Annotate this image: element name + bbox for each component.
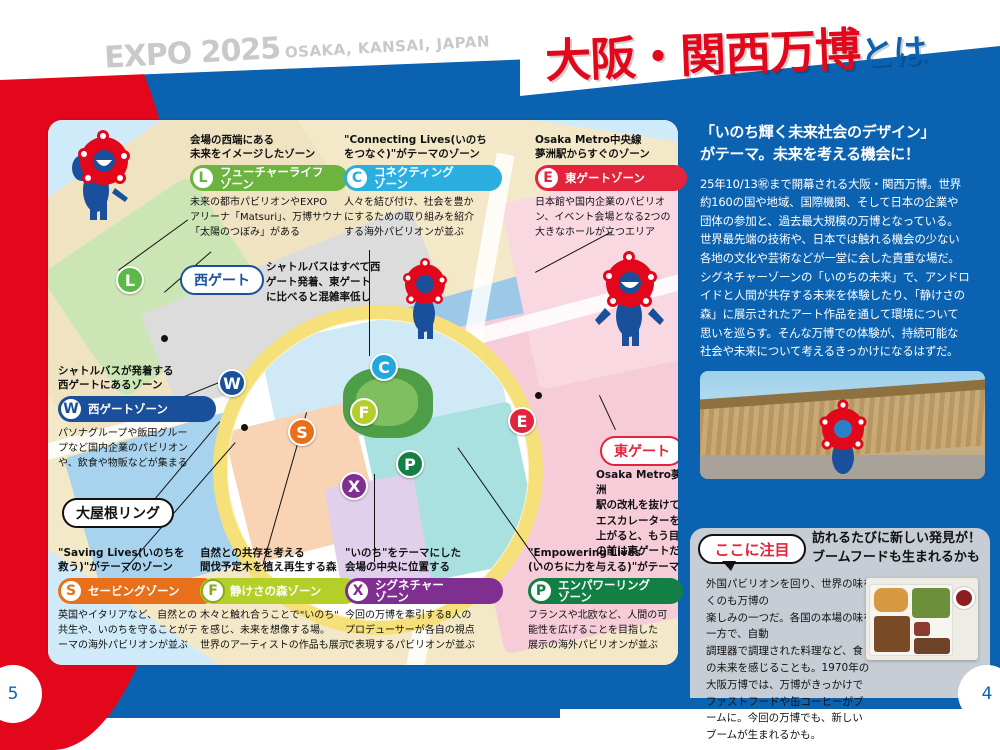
map-anchor-east-gate — [535, 392, 542, 399]
page-title-main: 大阪・関西万博 — [544, 22, 861, 88]
zone-desc-L: 未来の都市パビリオンやEXPO アリーナ「Matsuri」、万博サウナ 「太陽の… — [190, 195, 348, 240]
mascot-myaku-east — [593, 250, 667, 348]
map-pin-P[interactable]: P — [396, 450, 424, 478]
right-column: 「いのち輝く未来社会のデザイン」 がテーマ。未来を考える機会に！ 25年10/1… — [700, 122, 985, 479]
attention-badge: ここに注目 — [698, 534, 806, 564]
zone-name-P: エンパワーリング ゾーン — [558, 579, 650, 604]
attention-title: 訪れるたびに新しい発見が！ ブームフードも生まれるかも — [812, 530, 992, 568]
right-column-title: 「いのち輝く未来社会のデザイン」 がテーマ。未来を考える機会に！ — [700, 122, 985, 166]
zone-pill-P[interactable]: P エンパワーリング ゾーン — [528, 578, 683, 604]
photo-mascot-statue — [812, 399, 874, 477]
map-pin-W[interactable]: W — [218, 369, 246, 397]
map-anchor-grand-ring — [241, 424, 248, 431]
zone-card-W[interactable]: シャトルバスが発着する 西ゲートにあるゾーン W 西ゲートゾーン パソナグループ… — [58, 364, 216, 471]
zone-desc-S: 英国やイタリアなど、自然との 共生や、いのちを守ることがテ ーマの海外パビリオン… — [58, 608, 216, 653]
zone-head-S: "Saving Lives(いのちを 救う)"がテーマのゾーン — [58, 546, 216, 574]
bento-item-meat — [874, 616, 910, 652]
zone-head-L: 会場の西端にある 未来をイメージしたゾーン — [190, 133, 348, 161]
zone-badge-L: L — [191, 166, 215, 190]
map-anchor-west-gate — [161, 335, 168, 342]
bento-sauce — [956, 590, 972, 606]
zone-head-W: シャトルバスが発着する 西ゲートにあるゾーン — [58, 364, 216, 392]
bento-item-salad — [912, 588, 950, 618]
zone-head-C: "Connecting Lives(いのち をつなぐ)"がテーマのゾーン — [344, 133, 502, 161]
zone-head-E: Osaka Metro中央線 夢洲駅からすぐのゾーン — [535, 133, 687, 161]
zone-card-P[interactable]: "Empowering Lives (いのちに力を与える)"がテーマ P エンパ… — [528, 546, 683, 653]
zone-head-X: "いのち"をテーマにした 会場の中央に位置する — [345, 546, 503, 574]
badge-east-gate[interactable]: 東ゲート — [600, 436, 678, 466]
zone-pill-C[interactable]: C コネクティング ゾーン — [344, 165, 502, 191]
zone-card-X[interactable]: "いのち"をテーマにした 会場の中央に位置する X シグネチャー ゾーン 今回の… — [345, 546, 503, 653]
zone-badge-P: P — [529, 579, 553, 603]
mascot-myaku-west — [70, 128, 140, 224]
expo-venue-photo — [700, 371, 985, 479]
zone-name-F: 静けさの森ゾーン — [230, 585, 321, 598]
note-west-gate: シャトルバスはすべて西 ゲート発着、東ゲート に比べると混雑率低し — [266, 260, 396, 306]
zone-pill-X[interactable]: X シグネチャー ゾーン — [345, 578, 503, 604]
zone-head-F: 自然との共存を考える 間伐予定木を植え再生する森 — [200, 546, 358, 574]
zone-card-F[interactable]: 自然との共存を考える 間伐予定木を植え再生する森 F 静けさの森ゾーン 木々と触… — [200, 546, 358, 653]
zone-badge-F: F — [201, 579, 225, 603]
zone-pill-S[interactable]: S セービングゾーン — [58, 578, 216, 604]
zone-desc-W: パソナグループや飯田グルー プなど国内企業のパビリオン や、飲食や物販などが集ま… — [58, 426, 216, 471]
zone-badge-S: S — [59, 579, 83, 603]
zone-card-S[interactable]: "Saving Lives(いのちを 救う)"がテーマのゾーン S セービングゾ… — [58, 546, 216, 653]
bento-item-side — [914, 622, 930, 636]
mascot-myaku-center — [398, 258, 454, 340]
zone-name-C: コネクティング ゾーン — [374, 166, 454, 191]
zone-desc-F: 木々と触れ合うことで"いのち" を感じ、未来を想像する場。 世界のアーティストの… — [200, 608, 358, 653]
map-pin-L[interactable]: L — [116, 266, 144, 294]
zone-desc-X: 今回の万博を牽引する8人の プロデューサーが各自の視点 で表現するパビリオンが並… — [345, 608, 503, 653]
zone-pill-F[interactable]: F 静けさの森ゾーン — [200, 578, 358, 604]
zone-name-L: フューチャーライフ ゾーン — [220, 166, 323, 191]
zone-head-P: "Empowering Lives (いのちに力を与える)"がテーマ — [528, 546, 683, 574]
zone-badge-X: X — [346, 579, 370, 603]
bento-photo — [866, 578, 978, 660]
badge-grand-ring[interactable]: 大屋根リング — [62, 498, 174, 528]
bento-item-side2 — [914, 638, 950, 654]
zone-card-E[interactable]: Osaka Metro中央線 夢洲駅からすぐのゾーン E 東ゲートゾーン 日本館… — [535, 133, 687, 240]
zone-badge-E: E — [536, 166, 560, 190]
zone-pill-L[interactable]: L フューチャーライフ ゾーン — [190, 165, 348, 191]
magazine-spread: EXPO 2025 OSAKA, KANSAI, JAPAN 大阪・関西万博とは — [0, 0, 1000, 709]
zone-desc-C: 人々を結び付け、社会を豊か にするための取り組みを紹介 する海外パビリオンが並ぶ — [344, 195, 502, 240]
right-column-body: 25年10/13㊗まで開幕される大阪・関西万博。世界 約160の国や地域、国際機… — [700, 175, 985, 361]
map-pin-F[interactable]: F — [350, 398, 378, 426]
zone-name-E: 東ゲートゾーン — [565, 172, 645, 185]
badge-west-gate[interactable]: 西ゲート — [180, 265, 264, 295]
zone-desc-E: 日本館や国内企業のパビリオ ン、イベント会場となる2つの 大きなホールが立つエリ… — [535, 195, 687, 240]
zone-card-C[interactable]: "Connecting Lives(いのち をつなぐ)"がテーマのゾーン C コ… — [344, 133, 502, 240]
zone-name-S: セービングゾーン — [88, 585, 180, 598]
map-pin-S[interactable]: S — [288, 418, 316, 446]
page-title-suffix: とは — [859, 32, 926, 75]
zone-badge-W: W — [59, 397, 83, 421]
zone-pill-W[interactable]: W 西ゲートゾーン — [58, 396, 216, 422]
zone-name-W: 西ゲートゾーン — [88, 403, 168, 416]
map-pin-X[interactable]: X — [340, 472, 368, 500]
zone-name-X: シグネチャー ゾーン — [375, 579, 444, 604]
zone-card-L[interactable]: 会場の西端にある 未来をイメージしたゾーン L フューチャーライフ ゾーン 未来… — [190, 133, 348, 240]
zone-badge-C: C — [345, 166, 369, 190]
map-pin-C[interactable]: C — [370, 353, 398, 381]
bento-item-korokke — [874, 588, 908, 612]
zone-pill-E[interactable]: E 東ゲートゾーン — [535, 165, 687, 191]
zone-desc-P: フランスや北欧など、人間の可 能性を広げることを目指した 展示の海外パビリオンが… — [528, 608, 683, 653]
map-pin-E[interactable]: E — [508, 407, 536, 435]
